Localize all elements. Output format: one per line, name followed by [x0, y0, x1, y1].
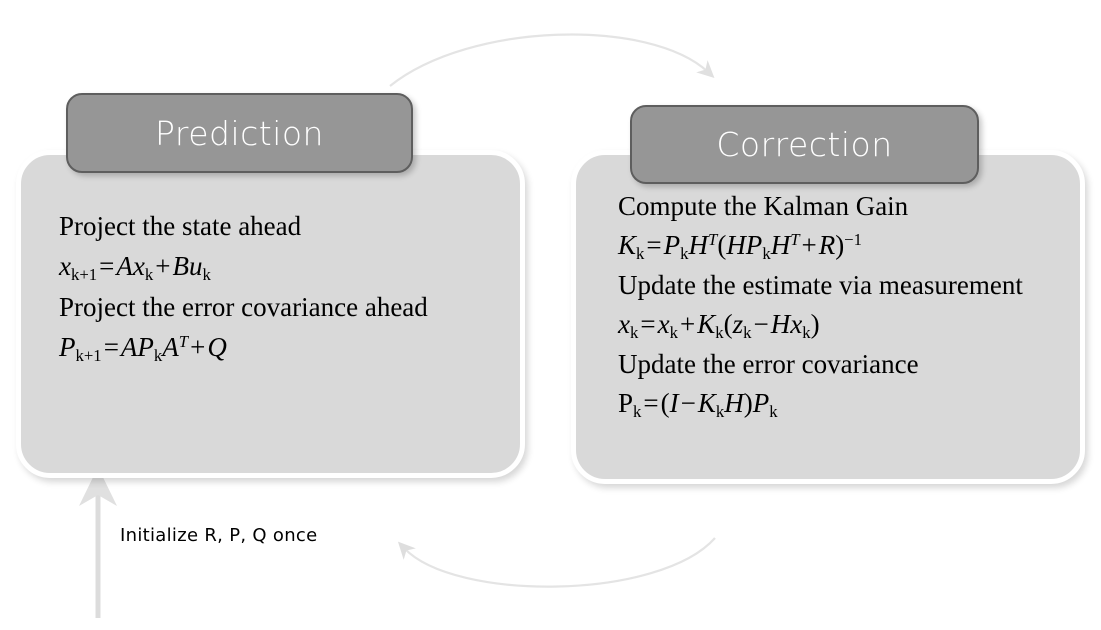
prediction-equation-state: xk+1=Axk+Buk: [59, 253, 502, 280]
correction-step-label-1: Compute the Kalman Gain: [618, 193, 1066, 220]
correction-step-label-3: Update the error covariance: [618, 351, 1066, 378]
initialize-caption: Initialize R, P, Q once: [120, 525, 317, 546]
prediction-step-label-1: Project the state ahead: [59, 213, 502, 240]
correction-header-chip[interactable]: Correction: [630, 105, 979, 184]
correction-equation-gain: Kk=PkHT(HPkHT+R)−1: [618, 232, 1066, 259]
prediction-header-label: Prediction: [155, 114, 324, 153]
prediction-step-label-2: Project the error covariance ahead: [59, 294, 502, 321]
prediction-body: Project the state ahead xk+1=Axk+Buk Pro…: [21, 213, 520, 375]
correction-step-label-2: Update the estimate via measurement: [618, 272, 1066, 299]
arrow-correction-to-prediction: [404, 538, 715, 587]
diagram-canvas: Project the state ahead xk+1=Axk+Buk Pro…: [0, 0, 1101, 630]
prediction-header-chip[interactable]: Prediction: [66, 93, 413, 173]
prediction-equation-covariance: Pk+1=APkAT+Q: [59, 334, 502, 361]
correction-equation-covariance: Pk=(I−KkH)Pk: [618, 390, 1066, 417]
correction-body: Compute the Kalman Gain Kk=PkHT(HPkHT+R)…: [576, 193, 1080, 430]
arrow-prediction-to-correction: [390, 34, 708, 86]
prediction-panel: Project the state ahead xk+1=Axk+Buk Pro…: [16, 150, 525, 478]
correction-panel: Compute the Kalman Gain Kk=PkHT(HPkHT+R)…: [571, 150, 1085, 484]
correction-equation-estimate: xk=xk+Kk(zk−Hxk): [618, 311, 1066, 338]
correction-header-label: Correction: [716, 125, 892, 164]
